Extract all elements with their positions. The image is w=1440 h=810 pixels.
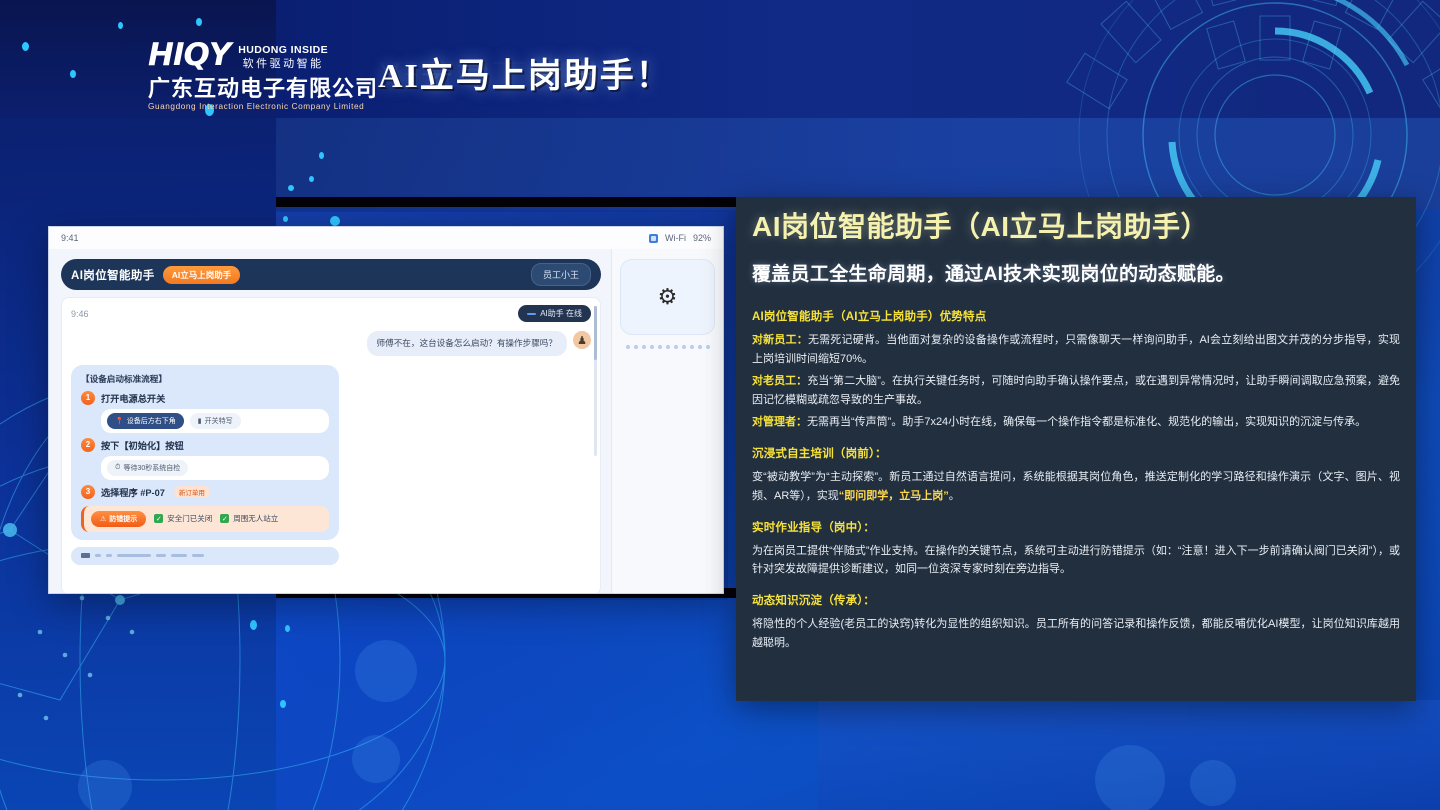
chip-label: 开关特写 — [205, 416, 233, 426]
grid-dot — [666, 345, 670, 349]
user-message-bubble: 师傅不在，这台设备怎么启动？有操作步骤吗？ — [367, 331, 567, 356]
feature-panel: AI岗位智能助手（AI立马上岗助手） 覆盖员工全生命周期，通过AI技术实现岗位的… — [736, 197, 1416, 701]
panel-section-head: AI岗位智能助手（AI立马上岗助手）优势特点 — [752, 308, 1400, 324]
safety-check-label: 周围无人站立 — [233, 513, 278, 524]
step-label: 按下【初始化】按钮 — [101, 438, 184, 452]
placeholder-line — [106, 554, 112, 557]
step-chip-location[interactable]: 📍 设备后方右下角 — [107, 413, 184, 429]
checkbox-checked-icon: ✓ — [220, 514, 229, 523]
settings-tile[interactable]: ⚙ — [620, 259, 715, 335]
placeholder-line — [117, 554, 151, 557]
alert-pill: ⚠ 防错提示 — [91, 511, 146, 527]
panel-item-text: 无需再当“传声筒”。助手7x24小时在线，确保每一个操作指令都是标准化、规范化的… — [807, 416, 1366, 428]
grid-dot — [642, 345, 646, 349]
placeholder-line — [171, 554, 187, 557]
brand-top-row: HIQY HUDONG INSIDE 软件驱动智能 — [148, 40, 358, 71]
placeholder-line — [95, 554, 101, 557]
user-avatar-icon: ♟ — [573, 331, 591, 349]
panel-body: AI岗位智能助手（AI立马上岗助手）优势特点 对新员工：无需死记硬背。当他面对复… — [752, 308, 1400, 653]
chip-label: 等待30秒系统自检 — [123, 463, 180, 473]
device-side-panel: ⚙ — [611, 249, 723, 594]
panel-item: 对老员工：充当“第二大脑”。在执行关键任务时，可随时向助手确认操作要点，或在遇到… — [752, 372, 1400, 410]
accent-dot — [309, 176, 314, 182]
status-time: 9:41 — [61, 233, 79, 243]
safety-check-item: ✓ 安全门已关闭 — [154, 513, 212, 524]
accent-dot — [288, 185, 294, 191]
accent-dot — [330, 216, 340, 226]
accent-dot — [280, 700, 286, 708]
assistant-online-badge: AI助手 在线 — [518, 305, 591, 322]
panel-item-label: 对管理者： — [752, 416, 807, 428]
brand-logo: HIQY HUDONG INSIDE 软件驱动智能 广东互动电子有限公司 Gua… — [148, 40, 358, 111]
app-header-bar: AI岗位智能助手 AI立马上岗助手 员工小王 — [61, 259, 601, 290]
online-indicator-icon — [527, 313, 536, 315]
device-main-column: AI岗位智能助手 AI立马上岗助手 员工小王 9:46 AI助手 在线 — [49, 249, 611, 594]
app-title: AI岗位智能助手 — [71, 267, 155, 283]
grid-dot — [650, 345, 654, 349]
step-tag: 新订单用 — [174, 486, 210, 498]
brand-wordmark: HIQY — [148, 40, 230, 71]
warning-icon: ⚠ — [100, 515, 106, 523]
brand-tagline: HUDONG INSIDE 软件驱动智能 — [238, 44, 328, 71]
accent-dot — [196, 18, 202, 26]
app-badge: AI立马上岗助手 — [163, 266, 241, 284]
background-black-band-top — [276, 197, 736, 207]
assistant-next-message-preview — [71, 547, 339, 565]
panel-section-head: 沉浸式自主培训（岗前）： — [752, 445, 1400, 461]
panel-section-head: 动态知识沉淀（传承）： — [752, 592, 1400, 608]
step-label: 选择程序 #P-07 — [101, 485, 165, 499]
panel-section-text-after: 。 — [949, 490, 960, 502]
assistant-answer-card: 【设备启动标准流程】 1 打开电源总开关 📍 设备后方右下角 ▮ — [71, 365, 339, 540]
status-wifi: Wi-Fi — [665, 233, 686, 243]
placeholder-line — [192, 554, 204, 557]
status-right-group: Wi-Fi 92% — [649, 233, 711, 243]
side-dot-grid — [620, 345, 715, 349]
accent-dot — [22, 42, 29, 51]
answer-step: 1 打开电源总开关 — [81, 391, 329, 405]
panel-section-body: 将隐性的个人经验(老员工的诀窍)转化为显性的组织知识。员工所有的问答记录和操作反… — [752, 615, 1400, 653]
chat-area[interactable]: 9:46 AI助手 在线 师傅不在，这台设备怎么启动？有操作步骤吗？ ♟ 【设备… — [61, 297, 601, 594]
panel-section-text: 将隐性的个人经验(老员工的诀窍)转化为显性的组织知识。员工所有的问答记录和操作反… — [752, 618, 1400, 649]
signal-icon — [649, 234, 658, 243]
chat-timestamp: 9:46 — [71, 309, 89, 319]
grid-dot — [658, 345, 662, 349]
grid-dot — [706, 345, 710, 349]
panel-section-body: 为在岗员工提供“伴随式”作业支持。在操作的关键节点，系统可主动进行防错提示（如：… — [752, 542, 1400, 580]
panel-item-label: 对新员工： — [752, 334, 808, 346]
panel-item-text: 无需死记硬背。当他面对复杂的设备操作或流程时，只需像聊天一样询问助手，AI会立刻… — [752, 334, 1400, 365]
brand-tagline-en: HUDONG INSIDE — [238, 44, 328, 57]
step-number: 2 — [81, 438, 95, 452]
panel-item-text: 充当“第二大脑”。在执行关键任务时，可随时向助手确认操作要点，或在遇到异常情况时… — [752, 375, 1400, 406]
accent-dot — [285, 625, 290, 632]
grid-dot — [690, 345, 694, 349]
safety-check-item: ✓ 周围无人站立 — [220, 513, 278, 524]
panel-section-emphasis: “即问即学，立马上岗” — [839, 490, 949, 502]
panel-subtitle: 覆盖员工全生命周期，通过AI技术实现岗位的动态赋能。 — [752, 259, 1400, 286]
gear-icon: ⚙ — [658, 286, 678, 308]
bokeh-circle — [1095, 745, 1165, 810]
grid-dot — [682, 345, 686, 349]
panel-section-head: 实时作业指导（岗中）： — [752, 519, 1400, 535]
grid-dot — [674, 345, 678, 349]
checkbox-checked-icon: ✓ — [154, 514, 163, 523]
slide-root: HIQY HUDONG INSIDE 软件驱动智能 广东互动电子有限公司 Gua… — [0, 0, 1440, 810]
step-chip-row: 📍 设备后方右下角 ▮ 开关特写 — [101, 409, 329, 433]
step-label: 打开电源总开关 — [101, 391, 165, 405]
accent-dot — [70, 70, 76, 78]
safety-check-label: 安全门已关闭 — [167, 513, 212, 524]
bokeh-circle — [352, 735, 400, 783]
accent-dot — [283, 216, 288, 222]
app-user-chip[interactable]: 员工小王 — [531, 263, 591, 286]
panel-item: 对新员工：无需死记硬背。当他面对复杂的设备操作或流程时，只需像聊天一样询问助手，… — [752, 331, 1400, 369]
panel-section-body: 变“被动教学”为“主动探索”。新员工通过自然语言提问，系统能根据其岗位角色，推送… — [752, 468, 1400, 506]
bokeh-circle — [78, 760, 132, 810]
bokeh-circle — [1190, 760, 1236, 806]
step-chip-photo[interactable]: ▮ 开关特写 — [190, 413, 241, 429]
brand-company-cn: 广东互动电子有限公司 — [148, 77, 358, 101]
answer-card-title: 【设备启动标准流程】 — [81, 373, 329, 385]
chat-top-row: 9:46 AI助手 在线 — [71, 305, 591, 322]
panel-title: AI岗位智能助手（AI立马上岗助手） — [752, 211, 1400, 243]
brand-tagline-cn: 软件驱动智能 — [238, 57, 328, 71]
step-chip-wait[interactable]: ⏱ 等待30秒系统自检 — [107, 460, 188, 476]
accent-dot — [250, 620, 257, 630]
step-chip-row: ⏱ 等待30秒系统自检 — [101, 456, 329, 480]
panel-section-text: 为在岗员工提供“伴随式”作业支持。在操作的关键节点，系统可主动进行防错提示（如：… — [752, 545, 1400, 576]
chip-label: 设备后方右下角 — [127, 416, 176, 426]
bokeh-circle — [355, 640, 417, 702]
grid-dot — [698, 345, 702, 349]
status-battery: 92% — [693, 233, 711, 243]
grid-dot — [634, 345, 638, 349]
answer-step: 2 按下【初始化】按钮 — [81, 438, 329, 452]
switch-icon: ▮ — [198, 417, 202, 425]
grid-dot — [626, 345, 630, 349]
placeholder-line — [156, 554, 166, 557]
brand-company-en: Guangdong Interaction Electronic Company… — [148, 102, 358, 111]
page-title: AI立马上岗助手！ — [378, 48, 672, 97]
panel-item-label: 对老员工： — [752, 375, 807, 387]
accent-dot — [118, 22, 123, 29]
device-body: AI岗位智能助手 AI立马上岗助手 员工小王 9:46 AI助手 在线 — [49, 249, 723, 594]
chat-scrollbar[interactable] — [594, 306, 597, 456]
chat-row-user: 师傅不在，这台设备怎么启动？有操作步骤吗？ ♟ — [71, 331, 591, 356]
step-number: 1 — [81, 391, 95, 405]
device-mockup: 9:41 Wi-Fi 92% AI岗位智能助手 AI立马上岗助手 员工小王 9:… — [48, 226, 724, 594]
pin-icon: 📍 — [115, 417, 124, 425]
step-number: 3 — [81, 485, 95, 499]
safety-alert-row: ⚠ 防错提示 ✓ 安全门已关闭 ✓ 周围无人站立 — [81, 506, 329, 532]
alert-pill-label: 防错提示 — [109, 514, 137, 524]
accent-dot — [319, 152, 324, 159]
clock-icon: ⏱ — [115, 464, 120, 472]
device-status-bar: 9:41 Wi-Fi 92% — [49, 227, 723, 249]
assistant-online-label: AI助手 在线 — [540, 308, 582, 319]
panel-item: 对管理者：无需再当“传声筒”。助手7x24小时在线，确保每一个操作指令都是标准化… — [752, 413, 1400, 432]
answer-step: 3 选择程序 #P-07 新订单用 — [81, 485, 329, 499]
placeholder-icon — [81, 553, 90, 558]
